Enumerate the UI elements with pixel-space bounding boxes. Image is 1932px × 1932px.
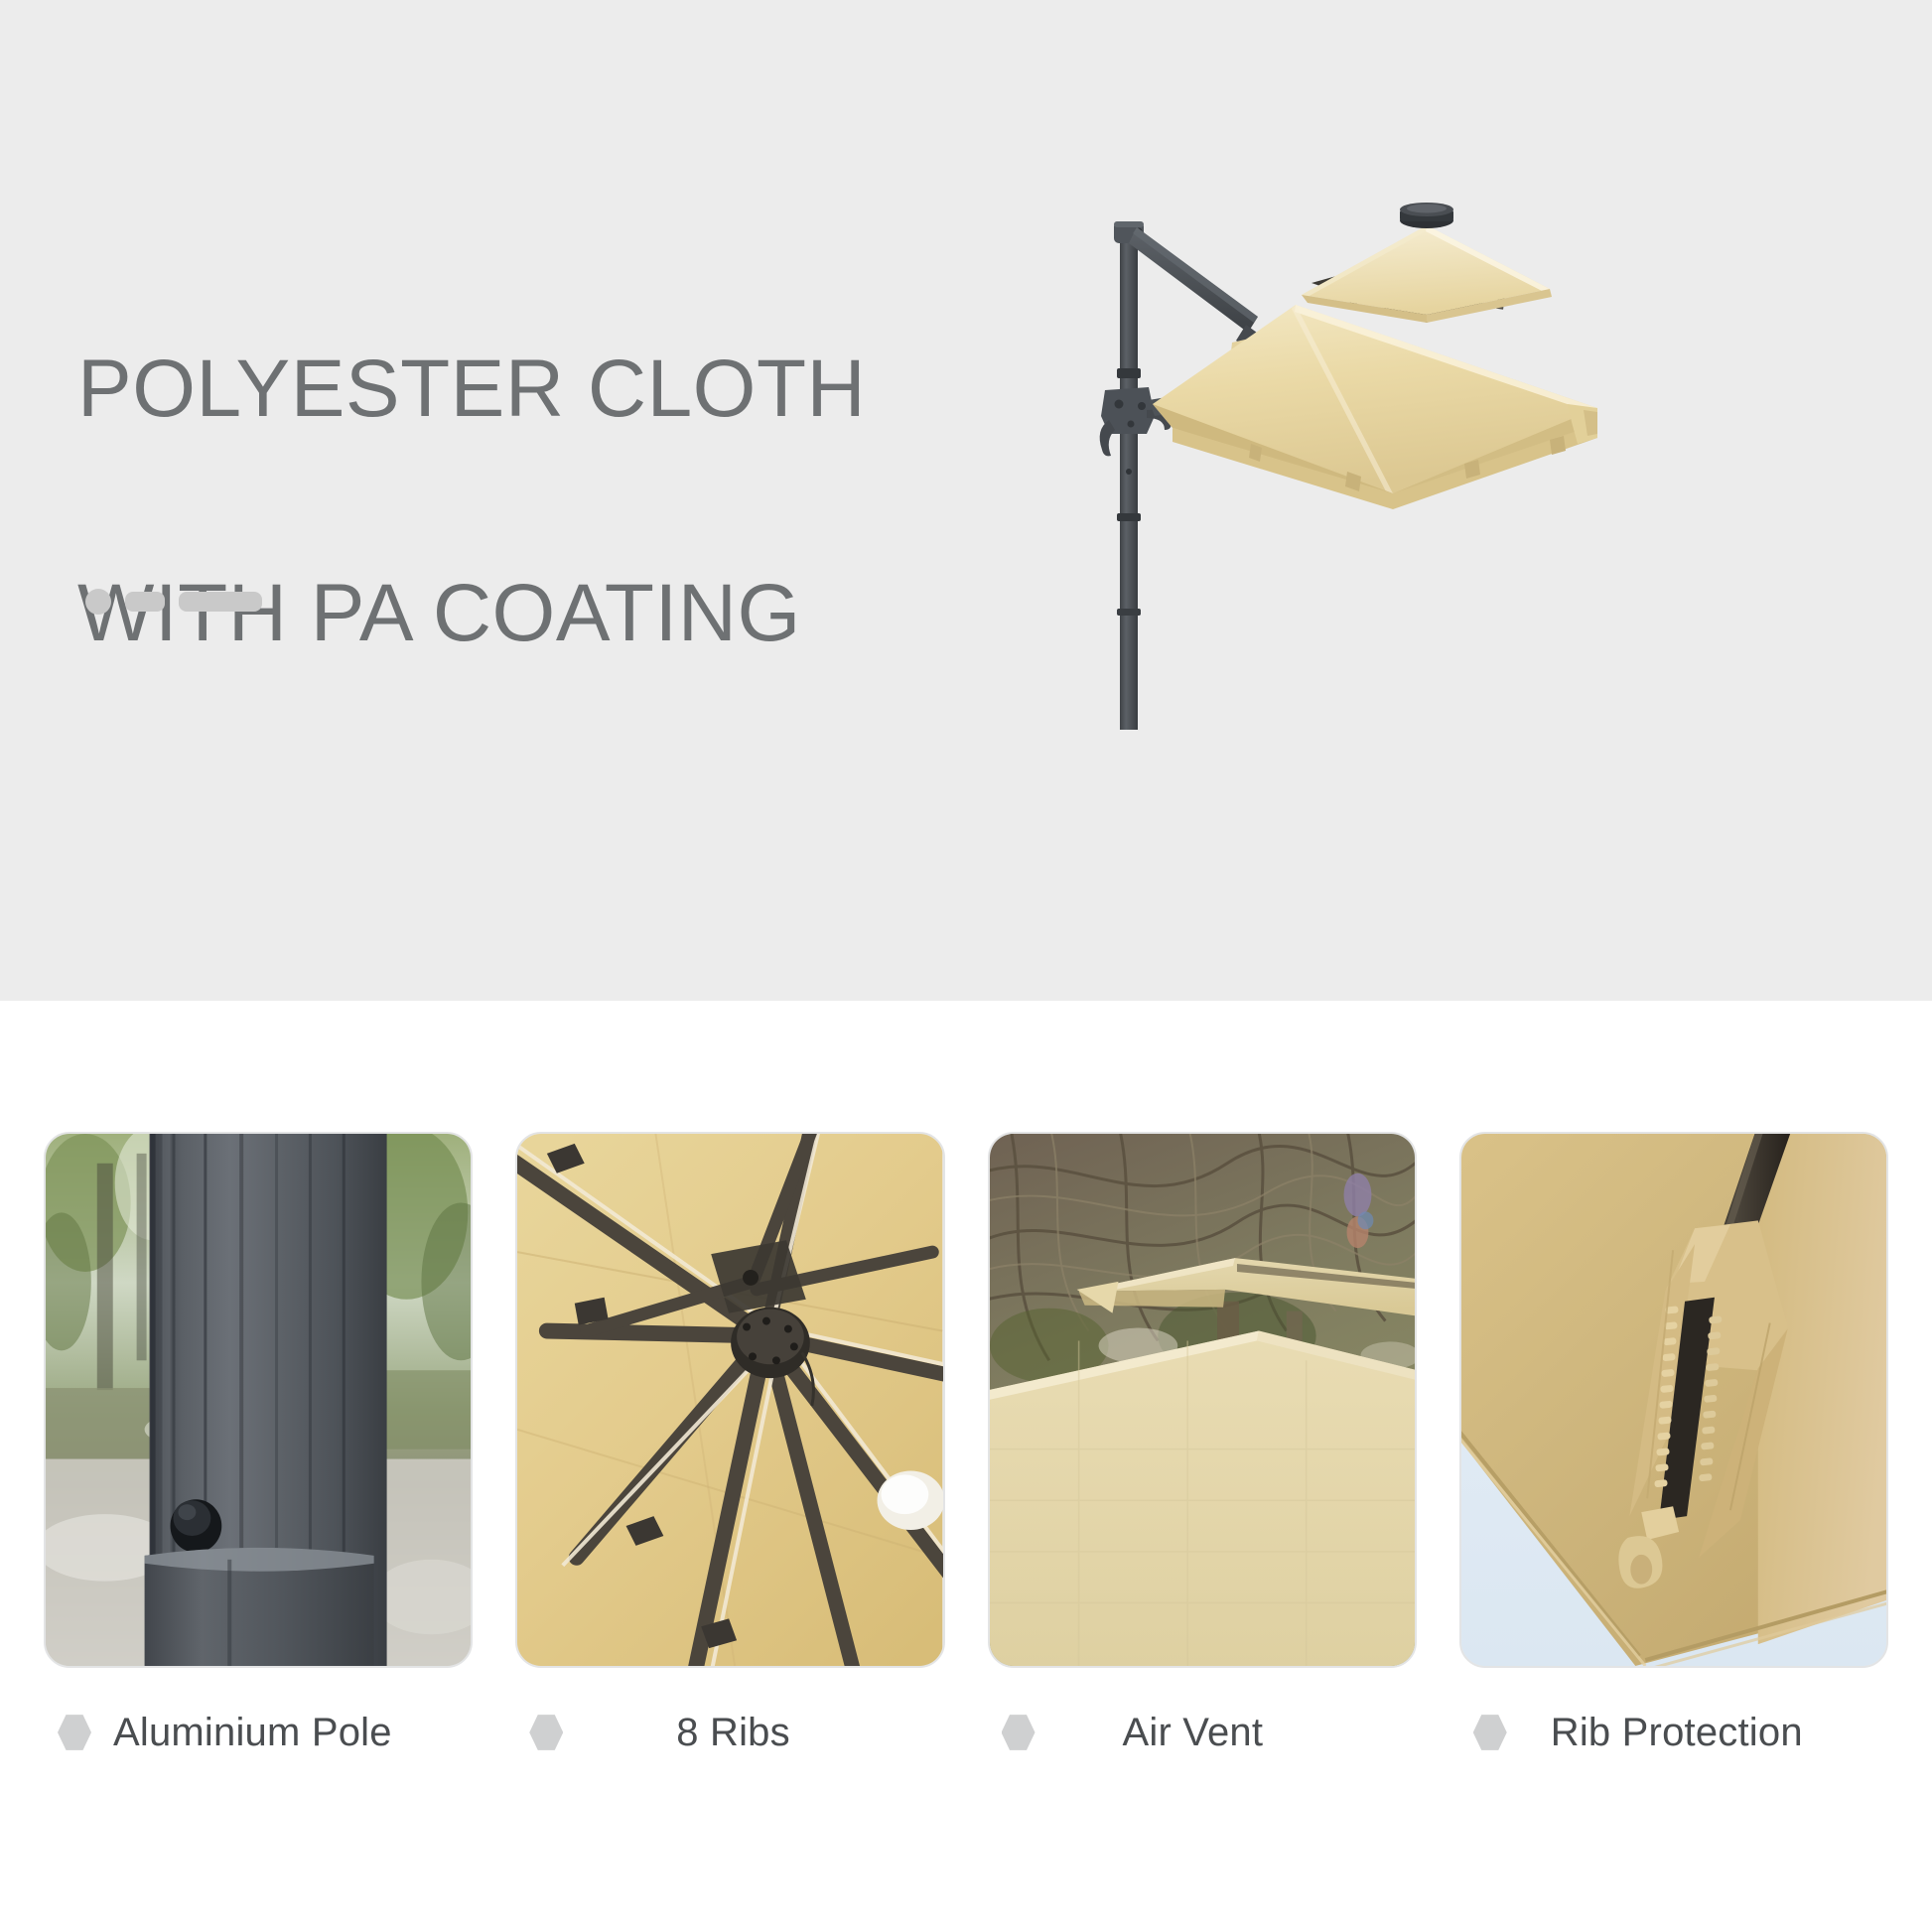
feature-label: Aluminium Pole [113, 1711, 392, 1755]
feature-caption-aluminium-pole: Aluminium Pole [44, 1688, 473, 1777]
hexagon-bullet-icon [1473, 1714, 1507, 1751]
page-title: POLYESTER CLOTH WITH PA COATING [77, 220, 866, 782]
page-title-line-1: POLYESTER CLOTH [77, 333, 866, 445]
short-dash-marker-icon [125, 592, 165, 612]
hexagon-bullet-icon [529, 1714, 563, 1751]
feature-label: 8 Ribs [676, 1711, 790, 1755]
hero-panel: POLYESTER CLOTH WITH PA COATING [0, 0, 1932, 1001]
dot-marker-icon [85, 589, 111, 615]
cantilever-patio-umbrella-image [998, 174, 1613, 730]
long-dash-marker-icon [179, 592, 262, 612]
feature-caption-air-vent: Air Vent [988, 1688, 1417, 1777]
feature-caption-rib-protection: Rib Protection [1459, 1688, 1888, 1777]
feature-thumbnail-aluminium-pole[interactable] [44, 1132, 473, 1668]
feature-label: Rib Protection [1551, 1711, 1803, 1755]
feature-thumbnail-rib-protection[interactable] [1459, 1132, 1888, 1668]
feature-caption-8-ribs: 8 Ribs [515, 1688, 944, 1777]
feature-thumbnail-strip [44, 1132, 1888, 1668]
hexagon-bullet-icon [58, 1714, 91, 1751]
feature-caption-row: Aluminium Pole 8 Ribs Air Vent Rib Prote… [44, 1688, 1888, 1777]
hexagon-bullet-icon [1002, 1714, 1035, 1751]
feature-thumbnail-air-vent[interactable] [988, 1132, 1417, 1668]
decorative-markers [85, 588, 262, 616]
feature-label: Air Vent [1123, 1711, 1264, 1755]
feature-thumbnail-8-ribs[interactable] [515, 1132, 944, 1668]
